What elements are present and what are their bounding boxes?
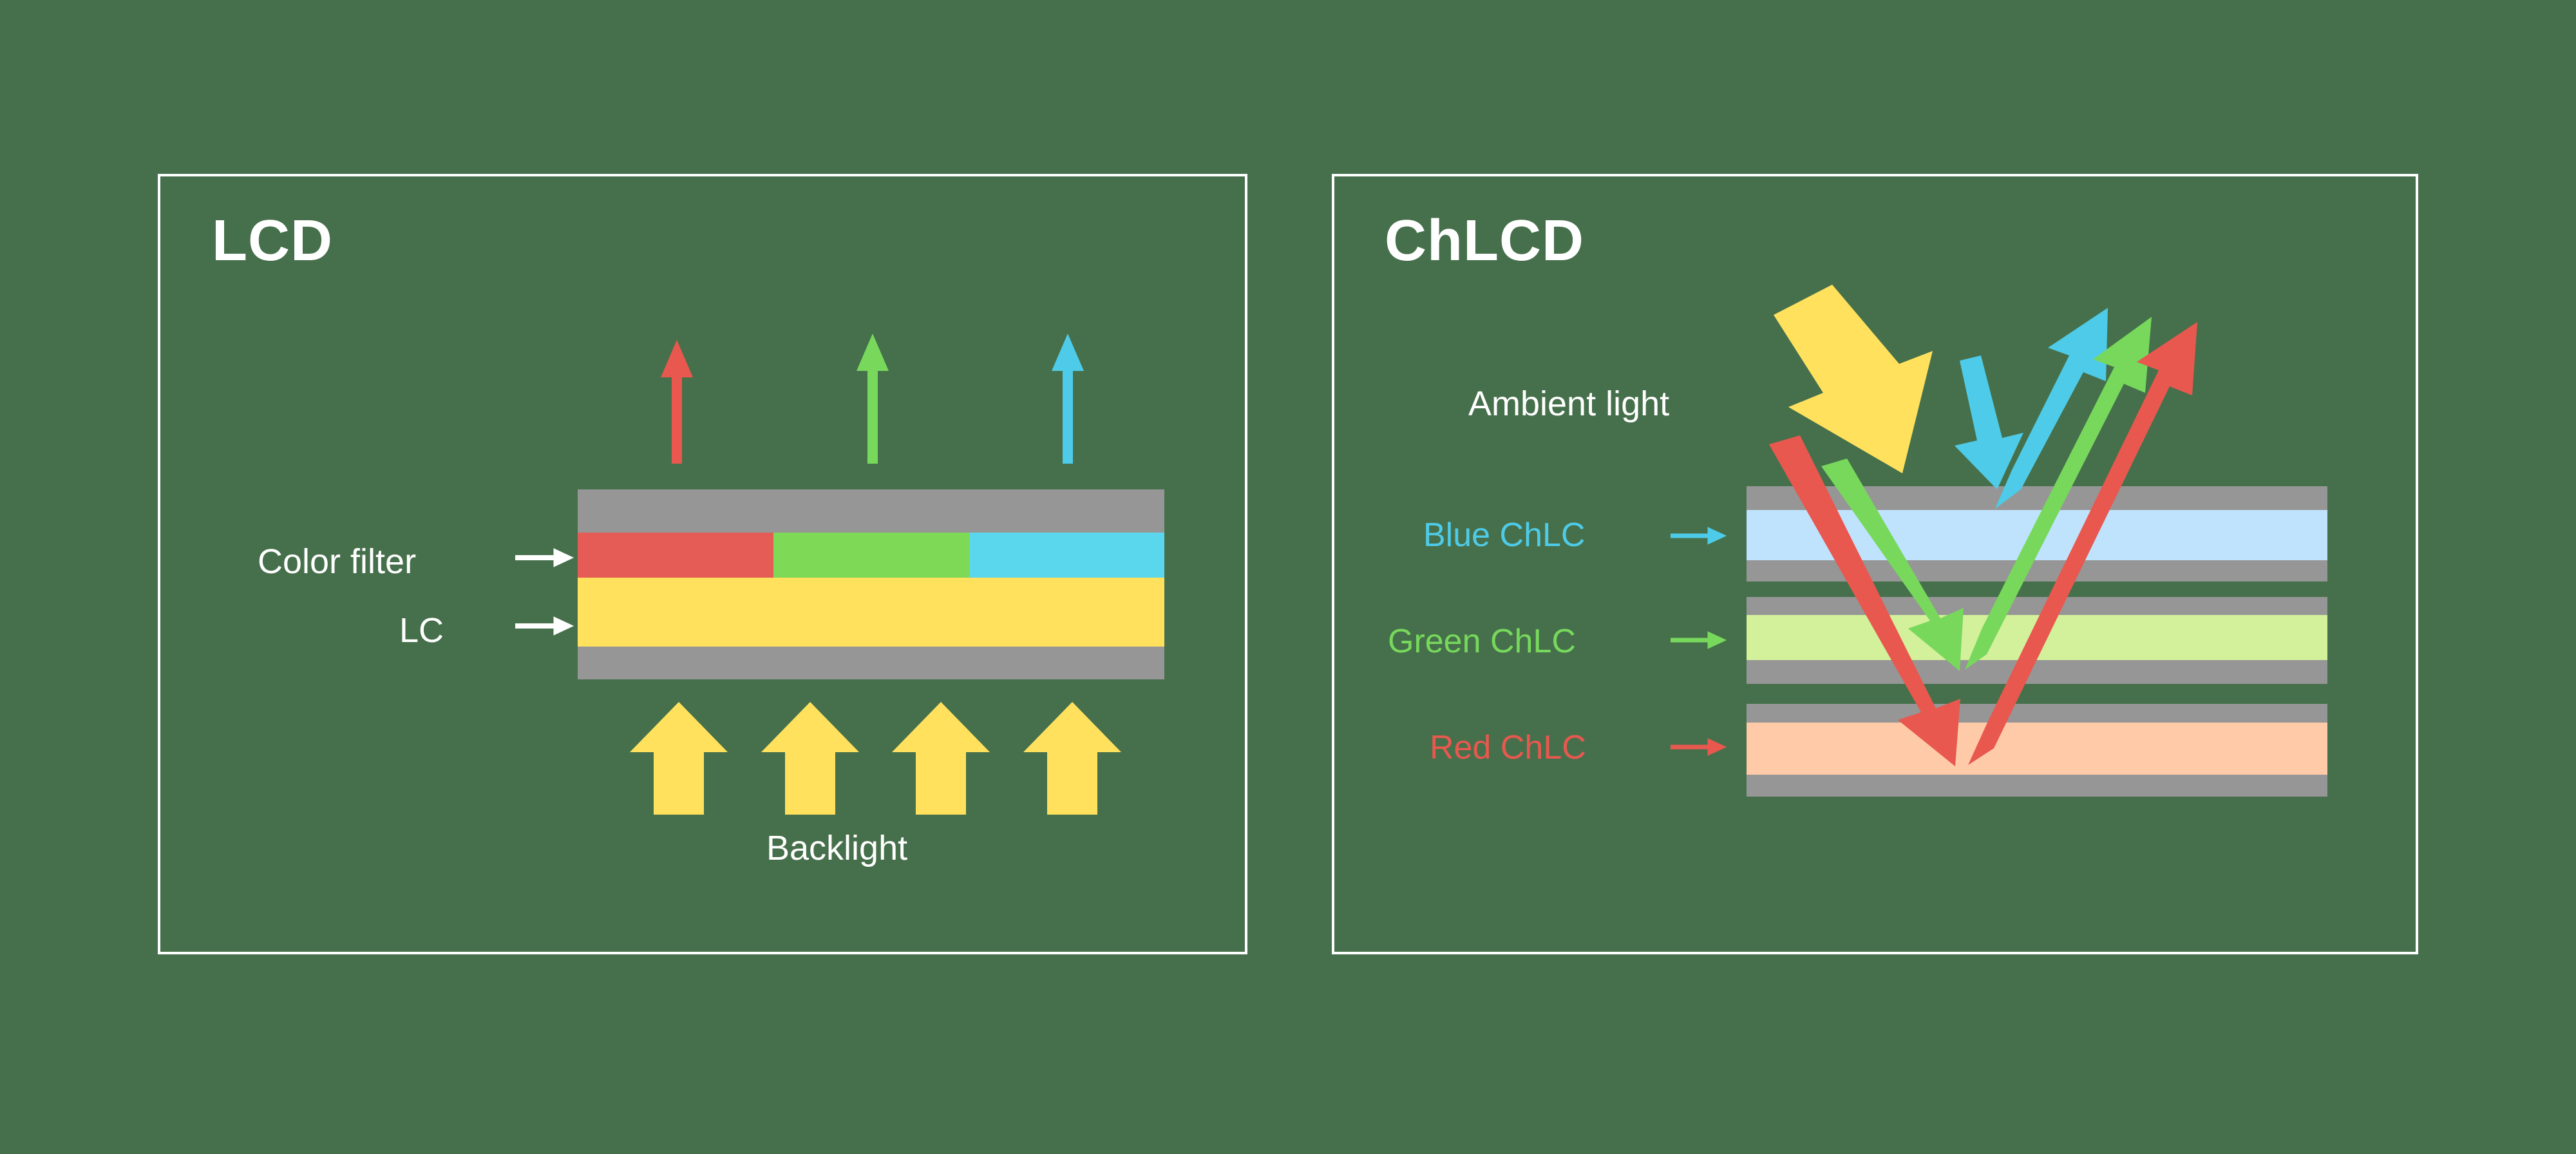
diagram-root: LCD <box>0 0 2576 1154</box>
lcd-panel-title: LCD <box>212 212 333 270</box>
lc-label: LC <box>399 613 444 648</box>
chlcd-panel-title: ChLCD <box>1385 212 1584 270</box>
color-filter-label: Color filter <box>258 544 416 579</box>
ambient-light-label: Ambient light <box>1468 386 1669 421</box>
backlight-label: Backlight <box>766 831 907 865</box>
green-chlc-label: Green ChLC <box>1388 625 1576 658</box>
blue-chlc-label: Blue ChLC <box>1423 518 1585 552</box>
chlcd-panel: ChLCD <box>1332 174 2418 954</box>
red-chlc-label: Red ChLC <box>1430 731 1586 764</box>
